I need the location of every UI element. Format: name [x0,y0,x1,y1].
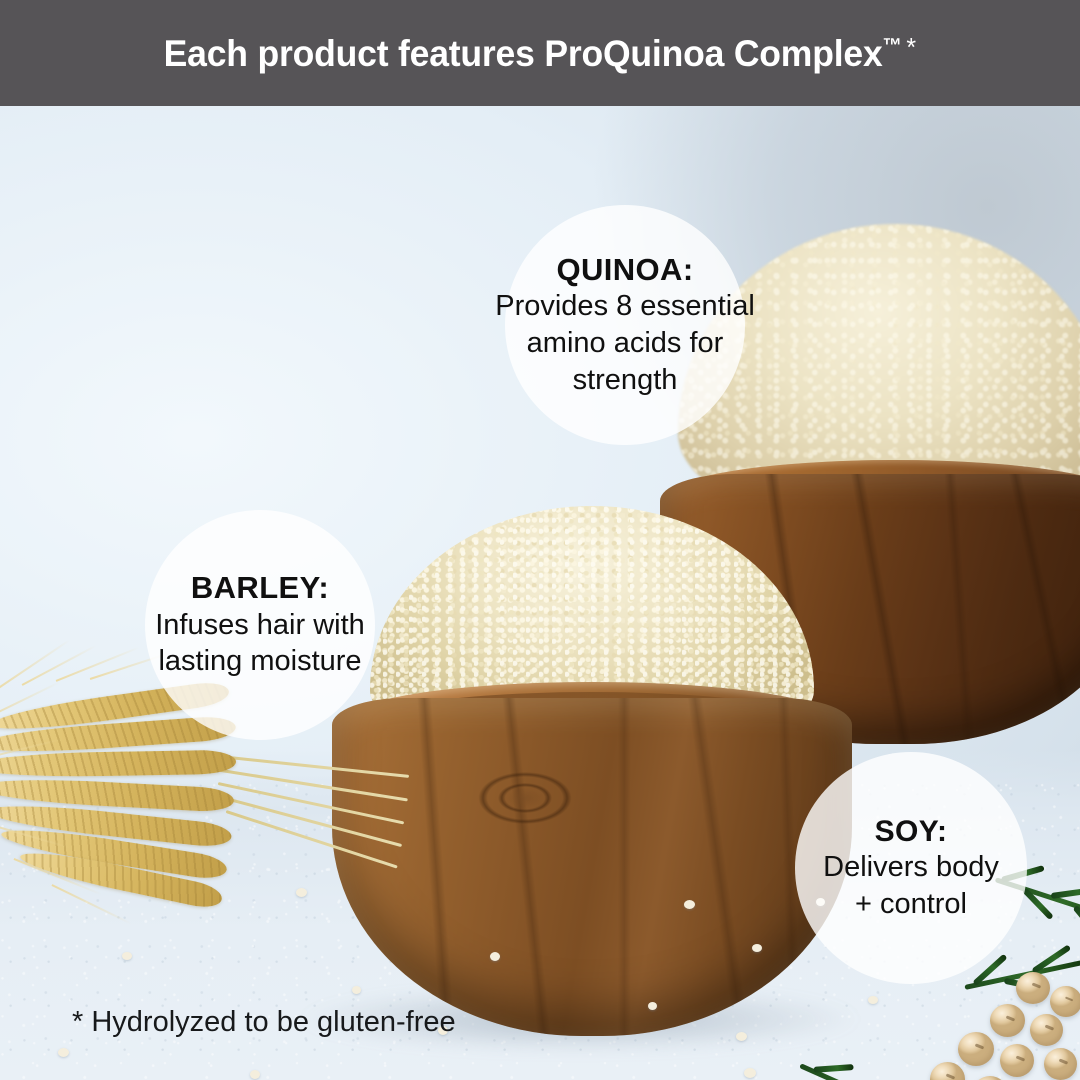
callout-quinoa-line-2: amino acids for [527,325,724,362]
trademark-icon: ™ [883,35,902,57]
page-title-text: Each product features ProQuinoa Complex [164,33,883,74]
soybean [1016,972,1050,1004]
wheat-head [0,750,236,779]
wheat-stem [225,810,397,869]
quinoa-grain [744,1068,756,1078]
front-bowl [332,506,852,1036]
soybean [990,1004,1025,1037]
footnote-gluten-free: * Hydrolyzed to be gluten-free [72,1006,456,1039]
page-title: Each product features ProQuinoa Complex™… [164,32,916,75]
quinoa-grain [352,986,361,994]
callout-barley-line-1: Infuses hair with [155,607,365,644]
quinoa-grain [736,1032,747,1041]
callout-barley-line-2: lasting moisture [158,643,361,680]
header-bar: Each product features ProQuinoa Complex™… [0,0,1080,106]
callout-quinoa-line-3: strength [573,362,678,399]
rosemary-needle [813,1064,853,1073]
quinoa-grain [648,1002,657,1010]
callout-soy: SOY: Delivers body + control [795,752,1027,984]
callout-barley-heading: BARLEY: [191,570,329,607]
soybean [1044,1048,1077,1080]
soybean [1050,986,1080,1017]
quinoa-grain [490,952,500,961]
quinoa-grain [58,1048,69,1057]
quinoa-grain [752,944,762,952]
infographic-stage: QUINOA: Provides 8 essential amino acids… [0,0,1080,1080]
callout-quinoa-heading: QUINOA: [556,252,693,289]
rosemary-needle [1073,905,1080,938]
soybean [1030,1014,1063,1046]
soybean [958,1032,994,1066]
callout-quinoa-line-1: Provides 8 essential [495,288,755,325]
callout-soy-heading: SOY: [875,814,948,849]
callout-soy-line-2: + control [855,886,967,923]
rosemary-needle [1051,887,1080,899]
callout-quinoa: QUINOA: Provides 8 essential amino acids… [505,205,745,445]
quinoa-grain [250,1070,260,1079]
quinoa-grain [122,952,132,960]
soybean [1000,1044,1034,1077]
quinoa-grain [296,888,307,897]
callout-barley: BARLEY: Infuses hair with lasting moistu… [145,510,375,740]
quinoa-grain [868,996,878,1004]
quinoa-grain [684,900,695,909]
front-bowl-wood-grain [332,698,852,1036]
footnote-marker-asterisk: * [907,32,917,62]
front-bowl-wood-knot [450,756,600,840]
callout-soy-line-1: Delivers body [823,849,999,886]
